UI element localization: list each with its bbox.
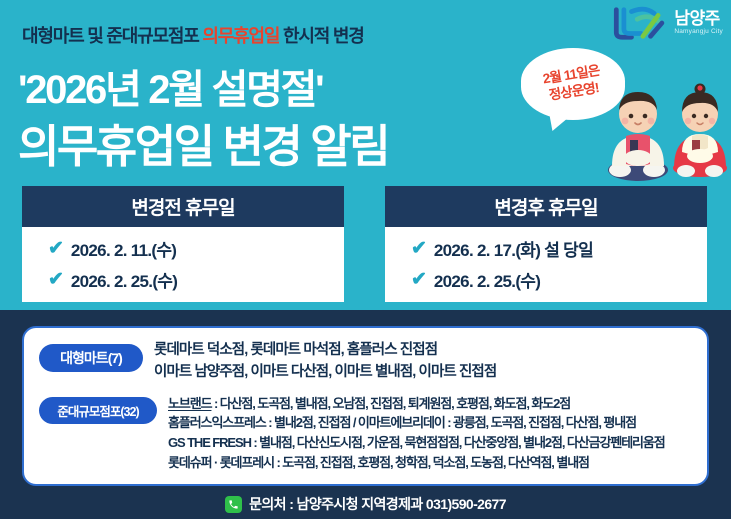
subtitle-highlight: 의무휴업일 [202, 26, 279, 46]
large-mart-group: 대형마트(7) 롯데마트 덕소점, 롯데마트 마석점, 홈플러스 진접점 이마트… [24, 340, 707, 384]
logo-text-block: 남양주 Namyangju City [674, 10, 723, 36]
semi-large-store-group: 준대규모점포(32) 노브랜드 : 다산점, 도곡점, 별내점, 오남점, 진접… [24, 394, 707, 473]
before-change-dates: ✔ 2026. 2. 11.(수) ✔ 2026. 2. 25.(수) [22, 227, 344, 292]
large-mart-badge: 대형마트(7) [39, 344, 143, 372]
date-row: ✔ 2026. 2. 25.(수) [411, 267, 707, 292]
after-change-dates: ✔ 2026. 2. 17.(화) 설 당일 ✔ 2026. 2. 25.(수) [385, 227, 707, 292]
girl-figure [673, 84, 727, 178]
check-icon: ✔ [411, 239, 427, 258]
date-row: ✔ 2026. 2. 25.(수) [48, 267, 344, 292]
large-mart-lines: 롯데마트 덕소점, 롯데마트 마석점, 홈플러스 진접점 이마트 남양주점, 이… [154, 340, 496, 384]
after-change-heading: 변경후 휴무일 [385, 186, 707, 227]
page-title-line1: '2026년 2월 설명절' [18, 57, 322, 115]
date-text: 2026. 2. 17.(화) 설 당일 [434, 236, 593, 261]
store-list-panel: 대형마트(7) 롯데마트 덕소점, 롯데마트 마석점, 홈플러스 진접점 이마트… [22, 326, 709, 486]
nobrand-label: 노브랜드 [168, 396, 211, 411]
contact-bar: 문의처 : 남양주시청 지역경제과 031)590-2677 [0, 489, 731, 519]
store-line: 홈플러스익스프레스 : 별내2점, 진접점 / 이마트에브리데이 : 광릉점, … [168, 413, 665, 433]
boy-figure [608, 92, 668, 181]
check-icon: ✔ [48, 270, 64, 289]
hanbok-children-illustration [596, 78, 731, 183]
logo-name-kr: 남양주 [674, 10, 723, 27]
store-line: 이마트 남양주점, 이마트 다산점, 이마트 별내점, 이마트 진접점 [154, 362, 496, 384]
poster-root: 남양주 Namyangju City 대형마트 및 준대규모점포 의무휴업일 한… [0, 0, 731, 519]
city-logo: 남양주 Namyangju City [612, 4, 723, 42]
store-line: 롯데마트 덕소점, 롯데마트 마석점, 홈플러스 진접점 [154, 340, 496, 362]
after-change-card: 변경후 휴무일 ✔ 2026. 2. 17.(화) 설 당일 ✔ 2026. 2… [385, 186, 707, 302]
subtitle-suffix: 한시적 변경 [279, 26, 363, 46]
date-row: ✔ 2026. 2. 17.(화) 설 당일 [411, 236, 707, 261]
semi-large-store-lines: 노브랜드 : 다산점, 도곡점, 별내점, 오남점, 진접점, 퇴계원점, 호평… [168, 394, 665, 473]
speech-bubble-text: 2월 11일은 정상운영! [542, 63, 604, 105]
before-change-card: 변경전 휴무일 ✔ 2026. 2. 11.(수) ✔ 2026. 2. 25.… [22, 186, 344, 302]
date-text: 2026. 2. 25.(수) [434, 267, 540, 292]
logo-name-en: Namyangju City [674, 29, 723, 36]
check-icon: ✔ [48, 239, 64, 258]
date-row: ✔ 2026. 2. 11.(수) [48, 236, 344, 261]
date-text: 2026. 2. 11.(수) [71, 236, 176, 261]
date-text: 2026. 2. 25.(수) [71, 267, 177, 292]
store-line: GS THE FRESH : 별내점, 다산신도시점, 가운점, 묵현점접점, … [168, 433, 665, 453]
contact-text: 문의처 : 남양주시청 지역경제과 031)590-2677 [249, 494, 506, 514]
store-line: 롯데슈퍼 · 롯데프레시 : 도곡점, 진접점, 호평점, 청학점, 덕소점, … [168, 453, 665, 473]
store-line: 노브랜드 : 다산점, 도곡점, 별내점, 오남점, 진접점, 퇴계원점, 호평… [168, 394, 665, 414]
phone-icon [225, 496, 242, 513]
check-icon: ✔ [411, 270, 427, 289]
subtitle-prefix: 대형마트 및 준대규모점포 [22, 26, 202, 46]
before-change-heading: 변경전 휴무일 [22, 186, 344, 227]
nobrand-stores: : 다산점, 도곡점, 별내점, 오남점, 진접점, 퇴계원점, 호평점, 화도… [211, 396, 570, 411]
header-subtitle: 대형마트 및 준대규모점포 의무휴업일 한시적 변경 [22, 22, 364, 48]
namyangju-ci-logo-icon [612, 4, 670, 42]
semi-large-store-badge: 준대규모점포(32) [39, 397, 157, 424]
page-title-line2: 의무휴업일 변경 알림 [18, 110, 388, 175]
